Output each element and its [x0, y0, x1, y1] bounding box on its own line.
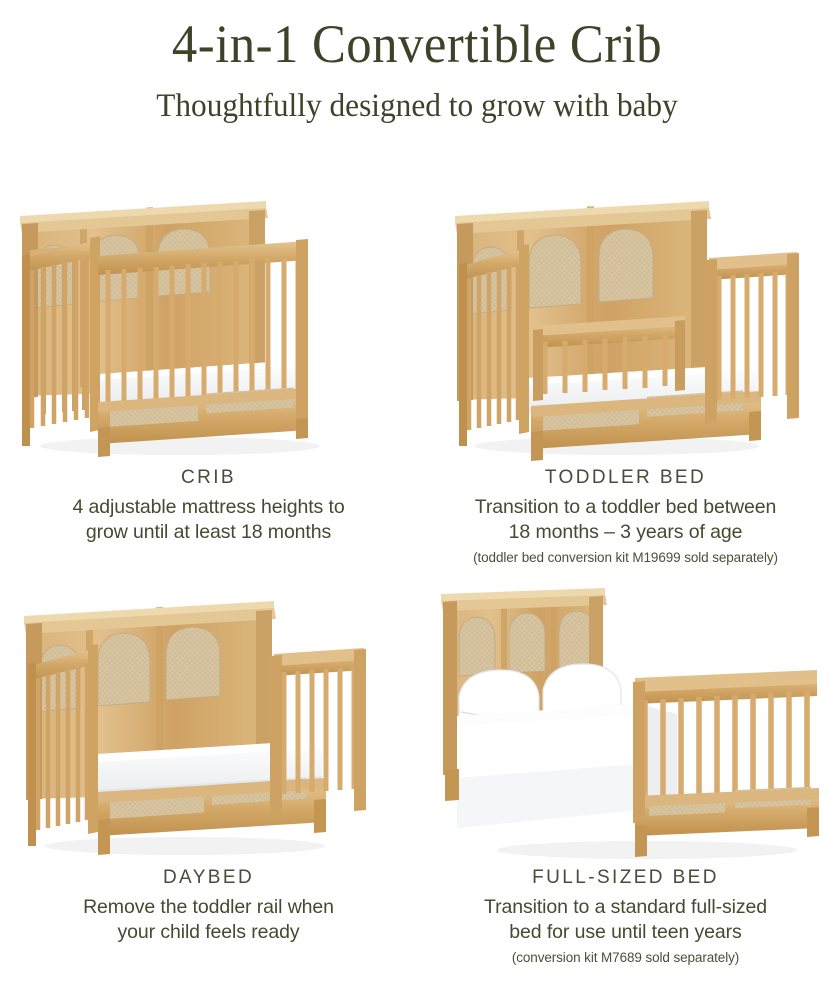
full-sized-bed-description-line-1: Transition to a standard full-sized	[426, 895, 826, 920]
crib-label: CRIB	[9, 466, 409, 490]
toddler-bed-fine-print: (toddler bed conversion kit M19699 sold …	[426, 548, 826, 567]
full-bed-side-rail	[633, 670, 819, 857]
daybed-label: DAYBED	[9, 866, 409, 890]
header: 4-in-1 Convertible Crib Thoughtfully des…	[0, 0, 834, 126]
full-sized-bed-illustration	[417, 578, 834, 868]
crib-description-line-2: grow until at least 18 months	[9, 520, 409, 545]
full-sized-bed-description-line-2: bed for use until teen years	[426, 920, 826, 945]
crib-description-line-1: 4 adjustable mattress heights to	[9, 495, 409, 520]
full-sized-bed-caption: FULL-SIZED BED Transition to a standard …	[426, 866, 826, 967]
toddler-bed-description-line-1: Transition to a toddler bed between	[426, 495, 826, 520]
panel-full-sized-bed: FULL-SIZED BED Transition to a standard …	[417, 578, 834, 978]
crib-left-end-panel	[22, 236, 100, 446]
toddler-bed-description: Transition to a toddler bed between 18 m…	[426, 495, 826, 545]
full-sized-bed-fine-print: (conversion kit M7689 sold separately)	[426, 948, 826, 967]
daybed-illustration	[0, 578, 417, 868]
toddler-bed-caption: TODDLER BED Transition to a toddler bed …	[426, 466, 826, 567]
crib-caption: CRIB 4 adjustable mattress heights to gr…	[9, 466, 409, 545]
crib-illustration	[0, 178, 417, 468]
crib-description: 4 adjustable mattress heights to grow un…	[9, 495, 409, 545]
full-sized-bed-label: FULL-SIZED BED	[426, 866, 826, 890]
daybed-description: Remove the toddler rail when your child …	[9, 895, 409, 945]
toddler-bed-description-line-2: 18 months – 3 years of age	[426, 520, 826, 545]
daybed-caption: DAYBED Remove the toddler rail when your…	[9, 866, 409, 945]
configuration-grid: CRIB 4 adjustable mattress heights to gr…	[0, 178, 834, 978]
panel-toddler-bed: TODDLER BED Transition to a toddler bed …	[417, 178, 834, 578]
full-sized-bed-description: Transition to a standard full-sized bed …	[426, 895, 826, 945]
daybed-description-line-2: your child feels ready	[9, 920, 409, 945]
product-infographic: 4-in-1 Convertible Crib Thoughtfully des…	[0, 0, 834, 990]
panel-daybed: DAYBED Remove the toddler rail when your…	[0, 578, 417, 978]
toddler-bed-label: TODDLER BED	[426, 466, 826, 490]
page-subtitle: Thoughtfully designed to grow with baby	[21, 86, 813, 126]
page-title: 4-in-1 Convertible Crib	[25, 14, 809, 74]
daybed-description-line-1: Remove the toddler rail when	[9, 895, 409, 920]
toddler-bed-illustration	[417, 178, 834, 468]
panel-crib: CRIB 4 adjustable mattress heights to gr…	[0, 178, 417, 578]
